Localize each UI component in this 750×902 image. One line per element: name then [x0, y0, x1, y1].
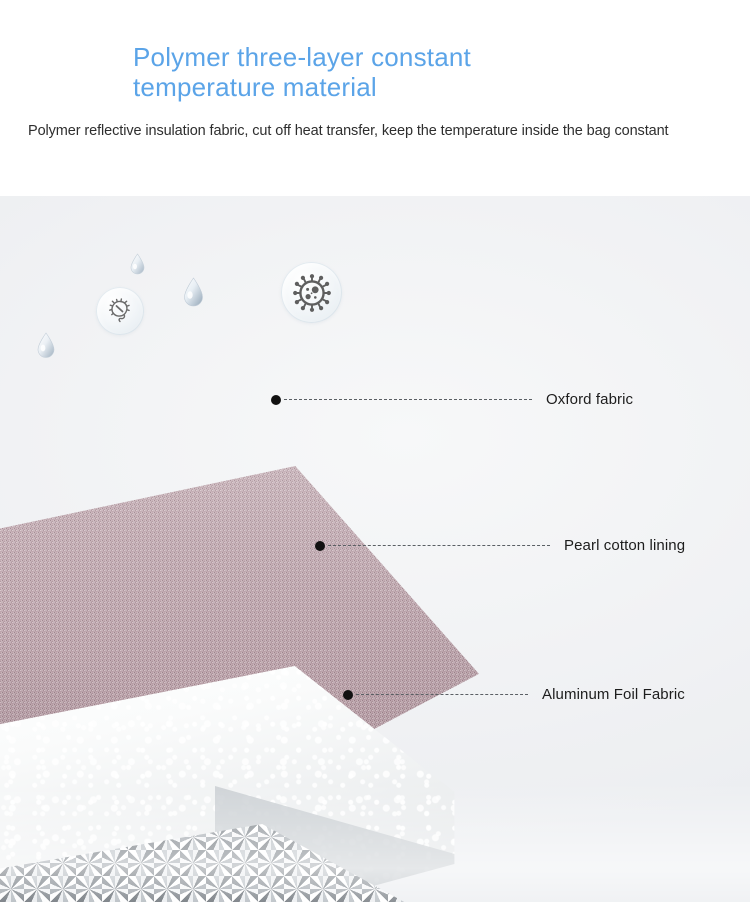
- page-title: Polymer three-layer constant temperature…: [133, 42, 603, 102]
- callout-pearl-cotton-lining: Pearl cotton lining: [315, 537, 685, 554]
- callout-label-pearl-cotton-lining: Pearl cotton lining: [564, 537, 685, 554]
- water-droplet-icon: [129, 253, 146, 275]
- header-section: Polymer three-layer constant temperature…: [0, 0, 750, 196]
- water-droplet-icon: [36, 332, 56, 358]
- callout-label-oxford-fabric: Oxford fabric: [546, 391, 633, 408]
- product-feature-panel: Polymer three-layer constant temperature…: [0, 0, 750, 902]
- callout-leader-line: [356, 694, 528, 695]
- layer-diagram-stage: Oxford fabric Pearl cotton lining Alumin…: [0, 196, 750, 902]
- callout-aluminum-foil-fabric: Aluminum Foil Fabric: [343, 686, 685, 703]
- virus-icon: [292, 273, 332, 313]
- callout-label-aluminum-foil-fabric: Aluminum Foil Fabric: [542, 686, 685, 703]
- water-droplet-icon: [182, 277, 205, 307]
- page-subtitle: Polymer reflective insulation fabric, cu…: [28, 122, 728, 141]
- bacteria-bubble-icon: [96, 287, 144, 335]
- callout-leader-line: [284, 399, 532, 400]
- callout-dot: [271, 395, 281, 405]
- virus-bubble-icon: [281, 262, 342, 323]
- callout-leader-line: [328, 545, 550, 546]
- callout-dot: [343, 690, 353, 700]
- callout-oxford-fabric: Oxford fabric: [271, 391, 633, 408]
- callout-dot: [315, 541, 325, 551]
- bacteria-icon: [106, 297, 134, 325]
